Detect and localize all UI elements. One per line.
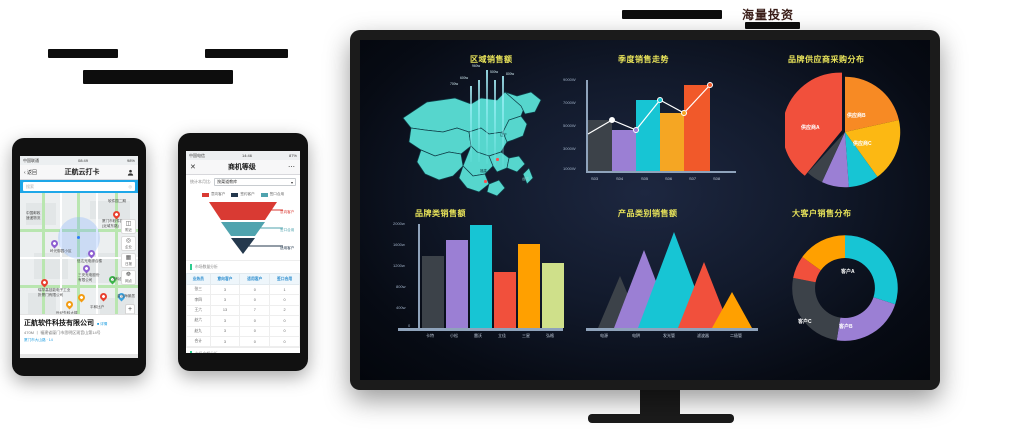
map-pin[interactable] (65, 300, 75, 310)
brand-bar[interactable] (542, 263, 564, 328)
legend-swatch (202, 193, 209, 197)
filter-row: 统计本月比: 按渠道教库 ▾ (186, 175, 300, 189)
phone-2-screen: 中国电信 14:46 87% ✕ 商机等级 ⋯ 统计本月比: 按渠道教库 ▾ 意… (186, 151, 300, 353)
cell: 赵九 (187, 326, 211, 336)
y-tick-label: 800w (396, 284, 406, 289)
user-icon[interactable] (127, 169, 134, 176)
map-tool-report[interactable]: ▦ 日报 (121, 253, 136, 268)
legend-swatch (231, 193, 238, 197)
pie-slice-label: 供应商C (853, 140, 872, 147)
y-axis-brand (418, 224, 420, 328)
legend-label: 签约客户 (240, 192, 254, 197)
watermark-text-red: 海量投资 (742, 6, 794, 23)
table-row[interactable]: 王六1372 (187, 305, 300, 315)
search-input[interactable]: 搜索 ◎ (23, 182, 135, 191)
place-detail-link[interactable]: ■ 详情 (97, 322, 107, 326)
map-label: 三安光电股份 有限公司 (78, 273, 100, 283)
clear-icon[interactable]: ◎ (129, 184, 133, 189)
carrier-label: 中国电信 (189, 153, 205, 159)
cell: 合计 (187, 336, 211, 346)
phone-1-screen: 中国联通 08:49 98% ‹ 返回 正航云打卡 搜索 ◎ (20, 156, 138, 358)
count-table: 业务员 意向客户 适用客户 签口合用 张三301 李四300 王六1372 赵六… (186, 273, 300, 347)
cell: 0 (270, 326, 300, 336)
watermark-block-1 (48, 49, 118, 58)
y-tick-label: 0 (408, 323, 410, 328)
legend-item: 签约客户 (231, 192, 254, 197)
map-value-label: 800w (506, 72, 514, 76)
chevron-down-icon: ▾ (291, 180, 293, 185)
cell: 张三 (187, 285, 211, 295)
x-tick-label: S07 (689, 176, 696, 181)
filter-label: 统计本月比: (190, 179, 211, 185)
column-header: 意向客户 (210, 274, 240, 285)
search-placeholder: 搜索 (26, 184, 34, 190)
product-triangles-svg (586, 230, 756, 330)
map-tool-company[interactable]: ◎ 企业 (121, 236, 136, 251)
dashboard: 区域销售额 (360, 40, 930, 380)
funnel-svg (203, 198, 283, 256)
section-title: 市场数量分析 (195, 265, 218, 270)
trend-line-svg (586, 78, 738, 173)
y-tick-label: 1600w (393, 242, 405, 247)
customer-donut-svg (785, 228, 905, 348)
battery-label: 98% (127, 158, 135, 163)
cell: 李四 (187, 295, 211, 305)
monitor: 区域销售额 (350, 30, 940, 390)
y-tick-label: 9000W (563, 77, 576, 82)
brand-bar[interactable] (422, 256, 444, 328)
trend-point[interactable] (707, 82, 713, 88)
map-value-bar (470, 86, 472, 162)
x-tick-label: S08 (713, 176, 720, 181)
x-tick-label: 弘格 (546, 333, 554, 339)
chart-title-product-area: 产品类别销售额 (618, 208, 678, 219)
cell: 0 (240, 285, 270, 295)
carrier-label: 中国联通 (23, 158, 39, 164)
map-value-bar (486, 70, 488, 164)
x-tick-label: 小松 (450, 333, 458, 339)
legend-item: 意向客户 (202, 192, 225, 197)
watermark-block-3 (83, 70, 233, 84)
map-value-bar (494, 80, 496, 166)
funnel-segment-1 (209, 202, 277, 220)
y-tick-label: 7000W (563, 100, 576, 105)
battery-label: 87% (289, 153, 297, 158)
cell: 0 (240, 326, 270, 336)
map-tool-label: 日报 (125, 261, 132, 266)
donut-slice[interactable] (837, 297, 895, 341)
pie-slice-label: 供应商B (847, 112, 866, 119)
trend-point[interactable] (657, 97, 663, 103)
y-tick-label: 2000w (393, 221, 405, 226)
table-row[interactable]: 赵六300 (187, 316, 300, 326)
map-value-label: 500w (490, 70, 498, 74)
phone-1-navbar: ‹ 返回 正航云打卡 (20, 165, 138, 180)
phone-1: 中国联通 08:49 98% ‹ 返回 正航云打卡 搜索 ◎ (12, 138, 146, 376)
province-label: 辽宁 (500, 132, 507, 137)
map-tool-site[interactable]: ☸ 网点 (121, 270, 136, 285)
legend-swatch (261, 193, 268, 197)
funnel-callout-label: 签口合用 (280, 228, 294, 233)
x-tick-label: 卡特 (426, 333, 434, 339)
cell: 0 (240, 336, 270, 346)
brand-bar[interactable] (446, 240, 468, 328)
place-name-text: 正航软件科技有限公司 (24, 320, 94, 327)
trend-point[interactable] (609, 117, 615, 123)
cell: 3 (210, 295, 240, 305)
map-label: 平和比户 (90, 305, 104, 310)
table-row[interactable]: 赵九300 (187, 326, 300, 336)
map-label: 中国邮政 速递物流 (26, 211, 40, 221)
map-value-bar (478, 80, 480, 162)
x-tick-label: 三星 (522, 333, 530, 339)
trend-point[interactable] (681, 110, 687, 116)
phone-2: 中国电信 14:46 87% ✕ 商机等级 ⋯ 统计本月比: 按渠道教库 ▾ 意… (178, 133, 308, 371)
cell: 0 (270, 316, 300, 326)
back-button[interactable]: ‹ 返回 (24, 169, 37, 176)
column-header: 适用客户 (240, 274, 270, 285)
cell: 3 (210, 336, 240, 346)
legend-item: 签口合用 (261, 192, 284, 197)
map-tool-group: ◫ 附近 ◎ 企业 ▦ 日报 ☸ 网点 (121, 219, 136, 285)
chart-title-supplier-pie: 品牌供应商采购分布 (788, 54, 865, 65)
screenshot-root: 海量投资 中国联通 08:49 98% ‹ 返回 正航云打卡 搜索 ◎ (0, 0, 1012, 432)
phone-1-statusbar: 中国联通 08:49 98% (20, 156, 138, 165)
x-tick-label: S04 (616, 176, 623, 181)
chart-title-brand-bar: 品牌类销售额 (415, 208, 466, 219)
map-label: 瑞华高技能电子工业 折厦门有限公司 (38, 288, 70, 298)
y-tick-label: 1000W (563, 166, 576, 171)
page-title: 正航云打卡 (65, 167, 100, 177)
section-header-amount: 市场金额分析 (186, 347, 300, 353)
cell: 0 (240, 295, 270, 305)
column-header: 签口合用 (270, 274, 300, 285)
cell: 3 (210, 285, 240, 295)
filter-value: 按渠道教库 (217, 179, 237, 185)
cell: 2 (270, 305, 300, 315)
place-card[interactable]: 正航软件科技有限公司■ 详情 470M 丨 福建省厦门市思明区观音山第14号 厦… (20, 314, 138, 346)
cell: 0 (270, 336, 300, 346)
section-header-count: 市场数量分析 (186, 260, 300, 273)
legend-label: 意向客户 (211, 192, 225, 197)
clock-label: 14:46 (242, 153, 252, 158)
map-value-label: 700w (450, 82, 458, 86)
funnel-legend: 意向客户 签约客户 签口合用 (186, 189, 300, 198)
funnel-segment-2 (221, 222, 265, 236)
china-map-svg (385, 70, 565, 200)
cell: 3 (210, 326, 240, 336)
trend-point[interactable] (633, 127, 639, 133)
x-tick-label: 滤波器 (697, 333, 709, 339)
x-tick-label: 电源 (600, 333, 608, 339)
province-label: 福建 (480, 168, 487, 173)
cell: 赵六 (187, 316, 211, 326)
place-name: 正航软件科技有限公司■ 详情 (24, 318, 134, 328)
x-tick-label: 二极管 (730, 333, 742, 339)
filter-select[interactable]: 按渠道教库 ▾ (214, 178, 296, 186)
table-header-row: 业务员 意向客户 适用客户 签口合用 (187, 274, 300, 285)
place-sublink[interactable]: 厦门市大山路 · 14 (24, 338, 134, 343)
cell: 王六 (187, 305, 211, 315)
province-label: 台湾 (522, 176, 529, 181)
legend-label: 签口合用 (270, 192, 284, 197)
funnel-callout-label: 意向客户 (280, 210, 294, 215)
map-label: 信达光电综合楼 (77, 259, 102, 264)
close-icon[interactable]: ✕ (190, 163, 196, 171)
cell: 0 (270, 295, 300, 305)
x-tick-label: S05 (641, 176, 648, 181)
chart-title-customer-donut: 大客户销售分布 (792, 208, 852, 219)
more-icon[interactable]: ⋯ (288, 163, 296, 171)
watermark-block-5 (745, 22, 800, 29)
supplier-pie-svg (785, 72, 905, 192)
x-tick-label: S03 (591, 176, 598, 181)
map-tool-nearby[interactable]: ◫ 附近 (121, 219, 136, 234)
clock-label: 08:49 (78, 158, 88, 163)
cell: 1 (270, 285, 300, 295)
watermark-block-2 (205, 49, 288, 58)
home-indicator (20, 354, 138, 358)
brand-bar[interactable] (518, 244, 540, 328)
zoom-in-button[interactable]: + (126, 305, 134, 314)
search-bar-container: 搜索 ◎ (20, 180, 138, 193)
pie-slice-label: 供应商A (801, 124, 820, 131)
column-header: 业务员 (187, 274, 211, 285)
map-value-label: 960w (472, 64, 480, 68)
x-tick-label: 发光管 (663, 333, 675, 339)
table-row[interactable]: 李四300 (187, 295, 300, 305)
funnel-chart: 意向客户 签口合用 适用客户 (186, 198, 300, 260)
brand-bar[interactable] (494, 272, 516, 328)
map-marker[interactable] (496, 158, 499, 161)
section-accent-bar (190, 264, 192, 270)
map-tool-label: 附近 (125, 227, 132, 232)
cell: 0 (240, 316, 270, 326)
current-location-dot (77, 236, 80, 239)
donut-slice[interactable] (792, 278, 840, 340)
page-title: 商机等级 (228, 162, 256, 172)
map-canvas[interactable]: 软件园二期 中国邮政 速递物流 厦门市软件园 (近域东路) 岭光御园小区 信达光… (20, 193, 138, 346)
y-tick-label: 1200w (393, 263, 405, 268)
map-marker[interactable] (484, 180, 487, 183)
monitor-stand-base (588, 414, 734, 423)
section-accent-bar (190, 351, 192, 353)
map-label: 软件园二期 (108, 199, 126, 204)
place-address: 470M 丨 福建省厦门市思明区观音山第14号 (24, 330, 134, 336)
brand-bar[interactable] (470, 225, 492, 328)
map-tool-label: 网点 (125, 278, 132, 283)
donut-slice-label: 客户A (841, 268, 855, 275)
donut-slice-label: 客户B (839, 323, 853, 330)
x-axis-brand (398, 328, 563, 331)
map-label: 岭光御园小区 (50, 249, 72, 254)
phone-2-statusbar: 中国电信 14:46 87% (186, 151, 300, 160)
map-label: 金山海景居 (117, 294, 135, 299)
x-tick-label: 雷沃 (474, 333, 482, 339)
table-row[interactable]: 合计300 (187, 336, 300, 346)
y-tick-label: 400w (396, 305, 406, 310)
x-axis-product (586, 328, 758, 331)
phone-2-navbar: ✕ 商机等级 ⋯ (186, 160, 300, 175)
chart-title-quarter-trend: 季度销售走势 (618, 54, 669, 65)
cell: 7 (240, 305, 270, 315)
funnel-callout-label: 适用客户 (280, 246, 294, 251)
y-tick-label: 3000W (563, 146, 576, 151)
table-row[interactable]: 张三301 (187, 285, 300, 295)
x-tick-label: 立佳 (498, 333, 506, 339)
map-value-label: 600w (460, 76, 468, 80)
map-value-bar (502, 76, 504, 168)
x-tick-label: S06 (665, 176, 672, 181)
section-title: 市场金额分析 (195, 352, 218, 353)
watermark-block-4 (622, 10, 722, 19)
donut-slice-label: 客户C (798, 318, 812, 325)
y-tick-label: 5000W (563, 123, 576, 128)
cell: 13 (210, 305, 240, 315)
cell: 3 (210, 316, 240, 326)
x-tick-label: 电阱 (632, 333, 640, 339)
map-tool-label: 企业 (125, 244, 132, 249)
